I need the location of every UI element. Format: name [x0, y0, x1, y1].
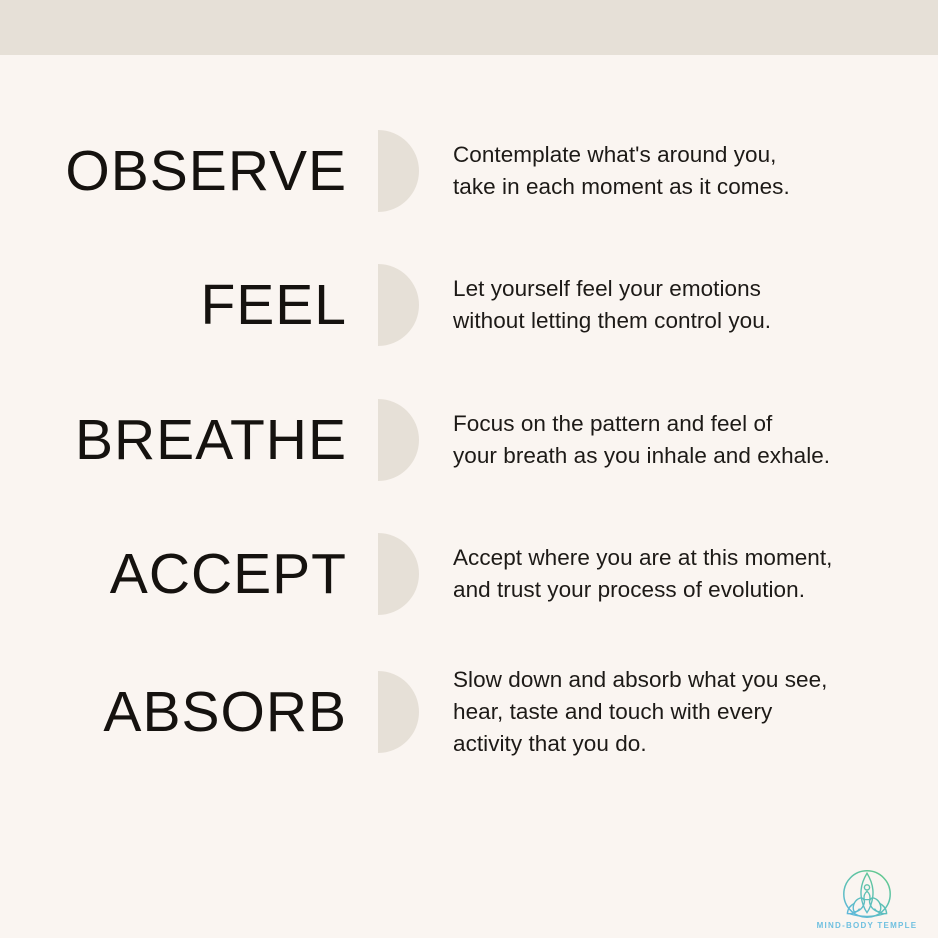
step-title: OBSERVE — [0, 142, 347, 200]
step-description: Accept where you are at this moment,and … — [453, 542, 938, 606]
step-description-line: take in each moment as it comes. — [453, 171, 938, 203]
step-row: ACCEPTAccept where you are at this momen… — [0, 519, 938, 629]
step-row: FEELLet yourself feel your emotionswitho… — [0, 250, 938, 360]
step-title: BREATHE — [0, 411, 347, 469]
step-marker — [347, 399, 453, 481]
step-marker — [347, 264, 453, 346]
step-description-line: your breath as you inhale and exhale. — [453, 440, 938, 472]
step-description-line: hear, taste and touch with every — [453, 696, 938, 728]
step-description: Let yourself feel your emotionswithout l… — [453, 273, 938, 337]
step-row: BREATHEFocus on the pattern and feel ofy… — [0, 385, 938, 495]
half-disc-icon — [378, 130, 419, 212]
brand-name: MIND-BODY TEMPLE — [817, 921, 918, 930]
top-decorative-band — [0, 0, 938, 55]
step-description-line: activity that you do. — [453, 728, 938, 760]
step-description-line: Slow down and absorb what you see, — [453, 664, 938, 696]
step-row: OBSERVEContemplate what's around you,tak… — [0, 116, 938, 226]
step-title: FEEL — [0, 276, 347, 334]
step-description-line: Contemplate what's around you, — [453, 139, 938, 171]
half-disc-icon — [378, 671, 419, 753]
half-disc-icon — [378, 399, 419, 481]
step-description: Contemplate what's around you,take in ea… — [453, 139, 938, 203]
step-description-line: without letting them control you. — [453, 305, 938, 337]
step-description-line: Accept where you are at this moment, — [453, 542, 938, 574]
step-title: ABSORB — [0, 683, 347, 741]
step-row: ABSORBSlow down and absorb what you see,… — [0, 657, 938, 767]
step-marker — [347, 671, 453, 753]
step-description: Focus on the pattern and feel ofyour bre… — [453, 408, 938, 472]
step-description-line: Focus on the pattern and feel of — [453, 408, 938, 440]
step-title: ACCEPT — [0, 545, 347, 603]
step-description-line: and trust your process of evolution. — [453, 574, 938, 606]
step-marker — [347, 130, 453, 212]
half-disc-icon — [378, 264, 419, 346]
half-disc-icon — [378, 533, 419, 615]
mindfulness-infographic: OBSERVEContemplate what's around you,tak… — [0, 0, 938, 938]
step-description-line: Let yourself feel your emotions — [453, 273, 938, 305]
step-marker — [347, 533, 453, 615]
lotus-meditation-circle-icon — [841, 868, 893, 920]
step-description: Slow down and absorb what you see,hear, … — [453, 664, 938, 760]
brand-logo: MIND-BODY TEMPLE — [819, 868, 915, 930]
